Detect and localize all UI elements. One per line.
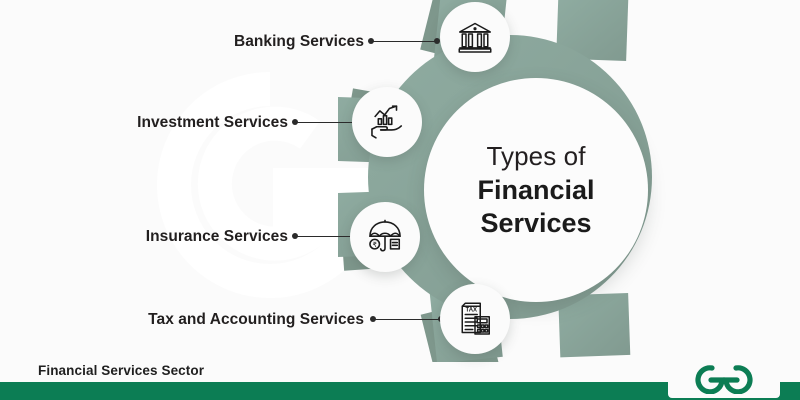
connector-banking xyxy=(368,36,444,46)
center-hub-text: Types of Financial Services xyxy=(424,78,648,302)
tax-document-calculator-icon: TAX xyxy=(457,301,493,337)
svg-text:TAX: TAX xyxy=(465,308,477,314)
hand-growth-chart-icon xyxy=(368,103,406,141)
center-line-1: Types of xyxy=(486,140,585,173)
node-investment[interactable] xyxy=(352,87,422,157)
node-banking[interactable] xyxy=(440,2,510,72)
item-label-insurance: Insurance Services xyxy=(146,228,288,246)
item-label-banking: Banking Services xyxy=(234,33,364,51)
infographic-canvas: Types of Financial Services Banking Serv… xyxy=(0,0,800,400)
center-line-3: Services xyxy=(480,207,591,240)
item-label-tax: Tax and Accounting Services xyxy=(148,311,364,329)
node-tax[interactable]: TAX xyxy=(440,284,510,354)
geeksforgeeks-logo xyxy=(676,352,772,394)
svg-text:₹: ₹ xyxy=(372,241,377,249)
connector-tax xyxy=(370,314,448,324)
node-insurance[interactable]: ₹ xyxy=(350,202,420,272)
umbrella-rupee-icon: ₹ xyxy=(366,218,404,256)
center-line-2: Financial xyxy=(477,174,594,207)
item-label-investment: Investment Services xyxy=(137,114,288,132)
center-hub: Types of Financial Services xyxy=(424,78,648,302)
bank-building-icon xyxy=(457,19,493,55)
footer-caption: Financial Services Sector xyxy=(38,363,204,378)
